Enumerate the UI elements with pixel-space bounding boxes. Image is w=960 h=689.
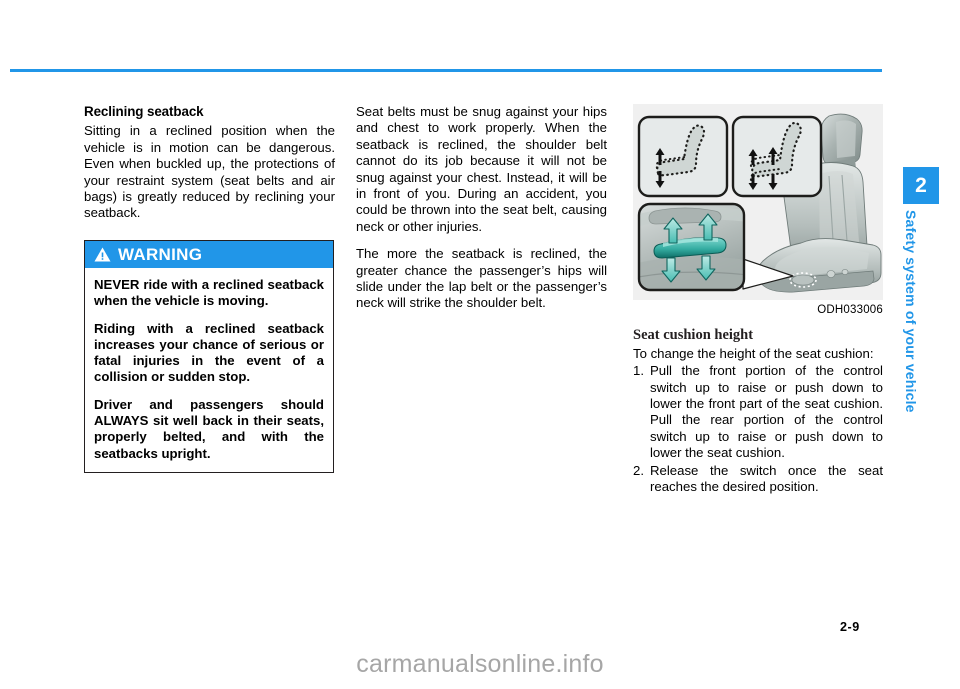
step-number: 2. (633, 463, 644, 479)
middle-column-paragraph-2: The more the seatback is reclined, the g… (356, 246, 607, 312)
warning-paragraph-2: Riding with a reclined seatback increase… (94, 321, 324, 386)
warning-triangle-icon (94, 247, 111, 262)
warning-title: WARNING (118, 245, 202, 265)
list-item: 1. Pull the front portion of the control… (633, 363, 883, 461)
step-number: 1. (633, 363, 644, 379)
left-column-paragraph: Sitting in a reclined position when the … (84, 123, 335, 221)
chapter-title-label: Safety system of your vehicle (903, 210, 919, 413)
list-item: 2. Release the switch once the seat reac… (633, 463, 883, 496)
page-title: Reclining seatback (84, 104, 335, 120)
watermark: carmanualsonline.info (0, 650, 960, 679)
chapter-number-tab: 2 (903, 167, 939, 204)
seat-cushion-height-intro: To change the height of the seat cushion… (633, 346, 883, 362)
warning-header: WARNING (85, 241, 333, 268)
step-text: Release the switch once the seat reaches… (650, 463, 883, 494)
middle-column: Seat belts must be snug against your hip… (356, 104, 607, 312)
right-column: ODH033006 Seat cushion height To change … (633, 104, 883, 495)
middle-column-paragraph-1: Seat belts must be snug against your hip… (356, 104, 607, 235)
warning-paragraph-3: Driver and passengers should ALWAYS sit … (94, 397, 324, 462)
warning-paragraph-1: NEVER ride with a reclined seatback when… (94, 277, 324, 310)
step-text: Pull the front portion of the control sw… (650, 363, 883, 460)
seat-illustration-svg (633, 104, 883, 300)
manual-page: Reclining seatback Sitting in a reclined… (0, 0, 960, 689)
left-column: Reclining seatback Sitting in a reclined… (84, 104, 335, 222)
header-rule (10, 69, 882, 72)
panel-seat-front-tilt (639, 117, 727, 196)
seat-cushion-height-steps: 1. Pull the front portion of the control… (633, 363, 883, 495)
warning-box: WARNING NEVER ride with a reclined seatb… (84, 240, 334, 473)
panel-control-switch (633, 204, 748, 290)
chapter-title-vertical: Safety system of your vehicle (903, 210, 939, 460)
seat-cushion-height-illustration (633, 104, 883, 300)
figure-caption: ODH033006 (633, 302, 883, 318)
panel-seat-full-height (733, 117, 821, 196)
seat-cushion-height-heading: Seat cushion height (633, 327, 883, 343)
intro-text: To change the height of the seat cushion… (633, 346, 883, 362)
warning-body: NEVER ride with a reclined seatback when… (85, 268, 333, 472)
page-number: 2-9 (840, 620, 860, 634)
